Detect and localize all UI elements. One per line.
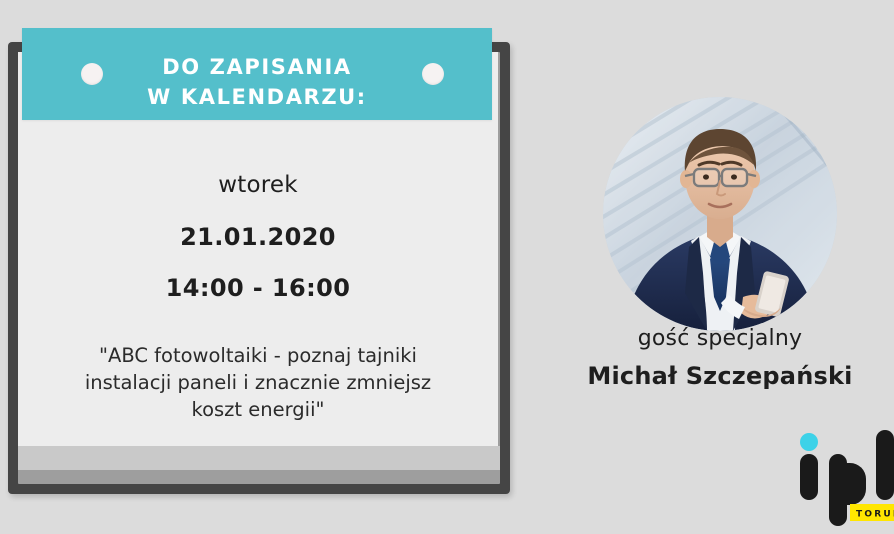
calendar-bottom-band <box>18 446 500 470</box>
calendar-body: wtorek 21.01.2020 14:00 - 16:00 "ABC fot… <box>24 130 492 423</box>
event-weekday: wtorek <box>24 172 492 198</box>
guest-caption: gość specjalny Michał Szczepański <box>560 326 880 390</box>
logo-badge-text: TORUŃ <box>856 508 894 520</box>
event-date: 21.01.2020 <box>24 223 492 251</box>
poster-canvas: DO ZAPISANIA W KALENDARZU: wtorek 21.01.… <box>0 0 894 534</box>
event-time-range: 14:00 - 16:00 <box>24 274 492 302</box>
iph-torun-logo: TORUŃ <box>792 428 894 534</box>
logo-dot-icon <box>800 433 818 451</box>
calendar-header-banner: DO ZAPISANIA W KALENDARZU: <box>22 28 492 120</box>
guest-role-label: gość specjalny <box>560 326 880 351</box>
calendar-header-title: DO ZAPISANIA W KALENDARZU: <box>22 52 492 112</box>
event-description: "ABC fotowoltaiki - poznaj tajniki insta… <box>24 342 492 423</box>
guest-name: Michał Szczepański <box>560 362 880 390</box>
guest-portrait-photo <box>603 97 837 331</box>
